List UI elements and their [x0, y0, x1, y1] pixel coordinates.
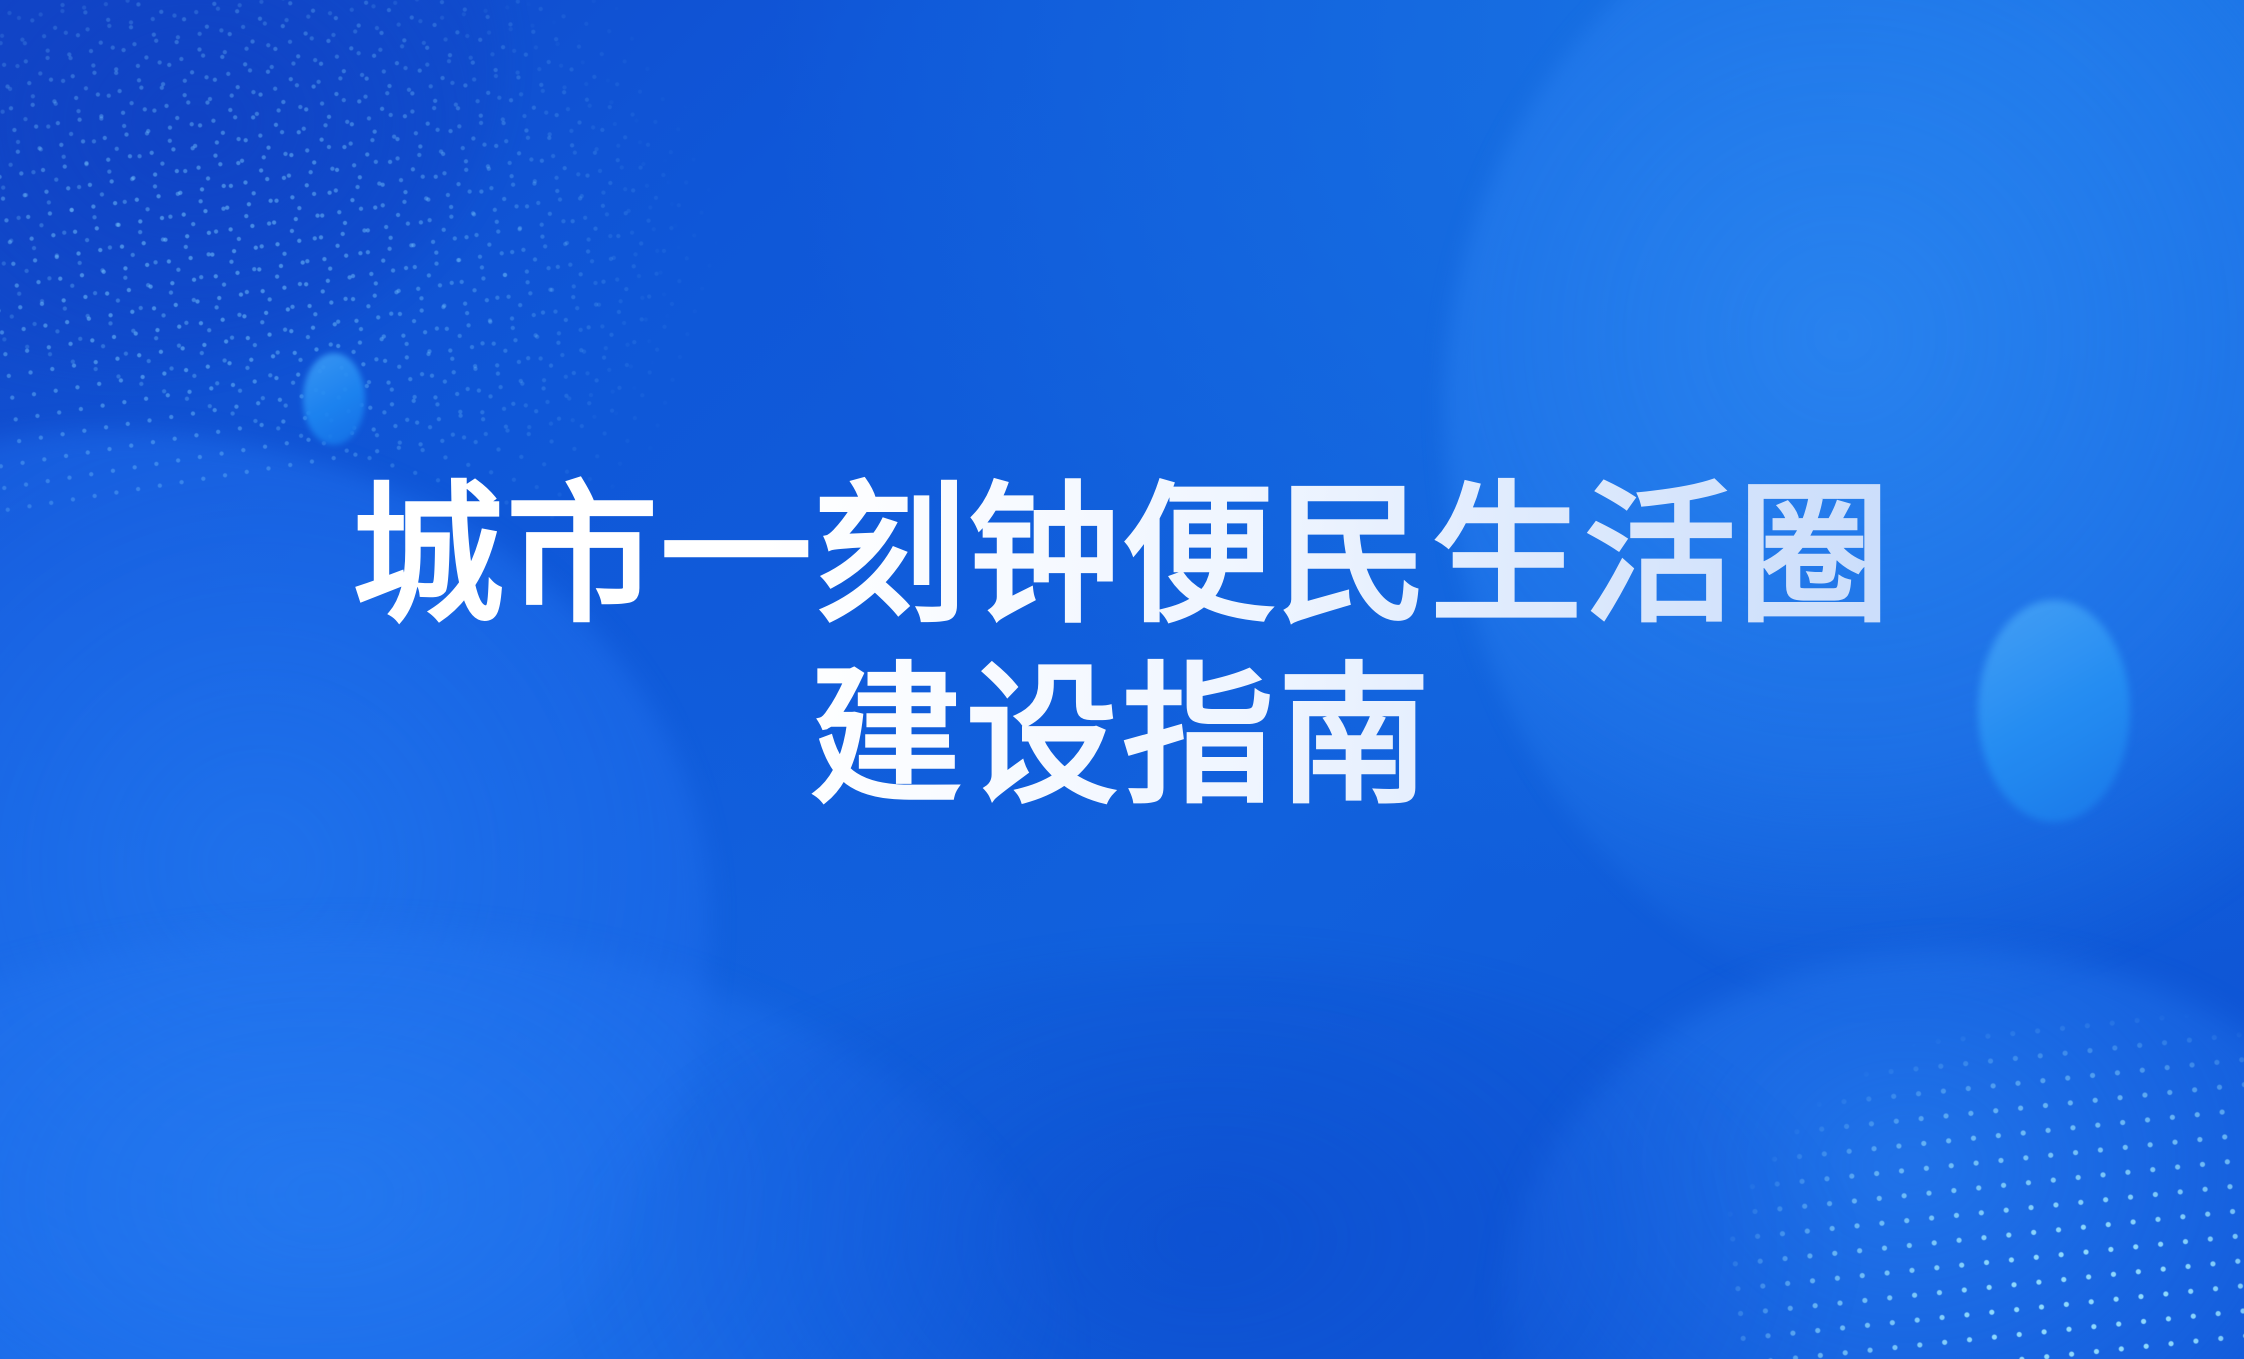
background-shadow-top-left [0, 0, 500, 370]
halftone-dots-top-left-icon [0, 0, 823, 537]
accent-ellipse-left-icon [303, 353, 365, 445]
banner-canvas: 城市一刻钟便民生活圈 建设指南 [0, 0, 2244, 1359]
banner-title: 城市一刻钟便民生活圈 建设指南 [0, 466, 2244, 828]
banner-title-line-1: 城市一刻钟便民生活圈 [0, 466, 2244, 647]
banner-title-line-2: 建设指南 [0, 647, 2244, 828]
halftone-dots-bottom-right-icon [1701, 987, 2244, 1359]
background-shadow-bottom-mid [560, 959, 1860, 1359]
background-blob-bottom-left [0, 929, 1070, 1359]
background-blob-bottom-right [1504, 949, 2244, 1359]
